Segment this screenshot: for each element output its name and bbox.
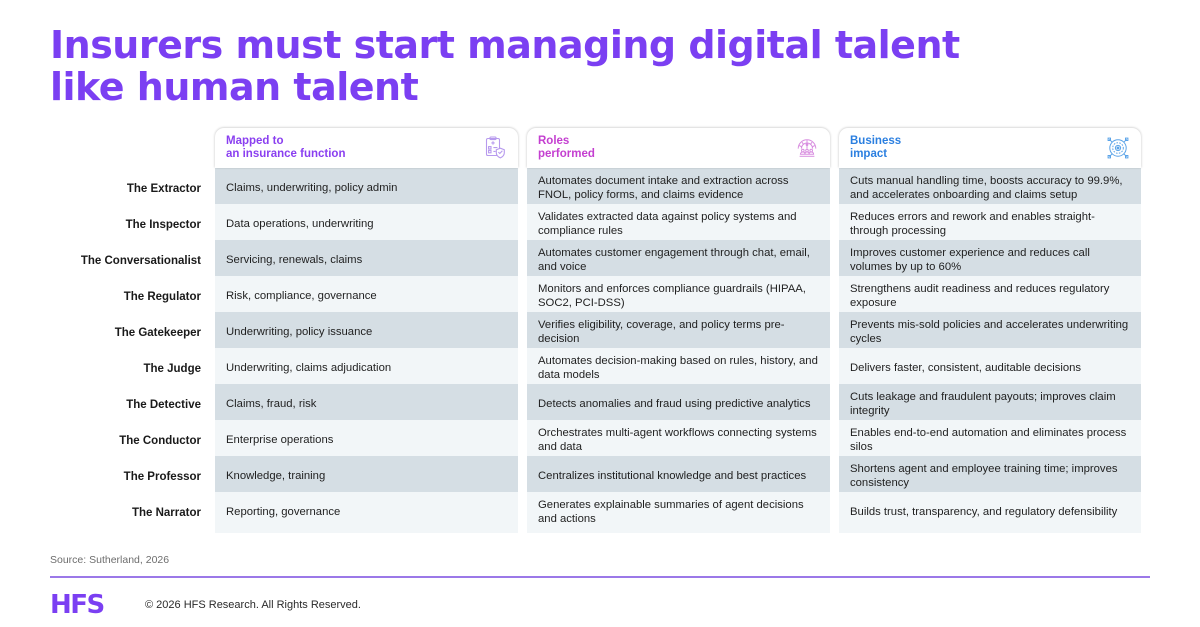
cell-text: Shortens agent and employee training tim… (850, 463, 1130, 490)
cell-impact: Enables end-to-end automation and elimin… (839, 420, 1141, 461)
cell-text: Claims, underwriting, policy admin (226, 182, 397, 196)
cell-text: Underwriting, policy issuance (226, 326, 372, 340)
cell-text: Claims, fraud, risk (226, 398, 316, 412)
table-row: The ExtractorClaims, underwriting, polic… (50, 168, 1150, 204)
cell-role: Monitors and enforces compliance guardra… (527, 276, 830, 317)
header-spacer (50, 128, 215, 168)
cell-impact: Cuts manual handling time, boosts accura… (839, 168, 1141, 209)
table-row: The ConversationalistServicing, renewals… (50, 240, 1150, 276)
cell-text: Reduces errors and rework and enables st… (850, 211, 1130, 238)
clipboard-shield-icon (482, 135, 508, 161)
page-footer: HFS © 2026 HFS Research. All Rights Rese… (50, 588, 1150, 622)
column-header-label: Roles performed (538, 135, 794, 162)
cell-text: Automates decision-making based on rules… (538, 355, 819, 382)
cell-text: Prevents mis-sold policies and accelerat… (850, 319, 1130, 346)
footer-divider (50, 576, 1150, 578)
agent-network-icon (794, 135, 820, 161)
cell-text: Validates extracted data against policy … (538, 211, 819, 238)
column-header-roles-performed: Roles performed (527, 128, 830, 168)
cell-text: Risk, compliance, governance (226, 290, 377, 304)
matrix-header-row: Mapped to an insurance function Roles pe… (50, 128, 1150, 168)
column-header-business-impact: Business impact (839, 128, 1141, 168)
persona-label: The Regulator (50, 276, 215, 317)
cell-text: Monitors and enforces compliance guardra… (538, 283, 819, 310)
table-row: The InspectorData operations, underwriti… (50, 204, 1150, 240)
table-row: The ProfessorKnowledge, trainingCentrali… (50, 456, 1150, 492)
cell-role: Automates document intake and extraction… (527, 168, 830, 209)
cell-role: Generates explainable summaries of agent… (527, 492, 830, 533)
cell-text: Cuts leakage and fraudulent payouts; imp… (850, 391, 1130, 418)
cell-text: Automates document intake and extraction… (538, 175, 819, 202)
cell-impact: Prevents mis-sold policies and accelerat… (839, 312, 1141, 353)
cell-role: Detects anomalies and fraud using predic… (527, 384, 830, 425)
copyright-text: © 2026 HFS Research. All Rights Reserved… (145, 599, 361, 611)
cell-function: Enterprise operations (215, 420, 518, 461)
cell-text: Orchestrates multi-agent workflows conne… (538, 427, 819, 454)
cell-text: Detects anomalies and fraud using predic… (538, 398, 811, 412)
cell-role: Validates extracted data against policy … (527, 204, 830, 245)
table-row: The GatekeeperUnderwriting, policy issua… (50, 312, 1150, 348)
cell-role: Verifies eligibility, coverage, and poli… (527, 312, 830, 353)
persona-label: The Professor (50, 456, 215, 497)
table-row: The JudgeUnderwriting, claims adjudicati… (50, 348, 1150, 384)
cell-role: Automates customer engagement through ch… (527, 240, 830, 281)
cell-role: Centralizes institutional knowledge and … (527, 456, 830, 497)
persona-label: The Judge (50, 348, 215, 389)
cell-function: Knowledge, training (215, 456, 518, 497)
table-row: The DetectiveClaims, fraud, riskDetects … (50, 384, 1150, 420)
cell-function: Reporting, governance (215, 492, 518, 533)
persona-label: The Narrator (50, 492, 215, 533)
cell-text: Cuts manual handling time, boosts accura… (850, 175, 1130, 202)
persona-label: The Conversationalist (50, 240, 215, 281)
cell-text: Underwriting, claims adjudication (226, 362, 391, 376)
target-gear-icon (1105, 135, 1131, 161)
cell-text: Servicing, renewals, claims (226, 254, 362, 268)
cell-text: Builds trust, transparency, and regulato… (850, 506, 1117, 520)
cell-impact: Reduces errors and rework and enables st… (839, 204, 1141, 245)
cell-text: Generates explainable summaries of agent… (538, 499, 819, 526)
cell-text: Automates customer engagement through ch… (538, 247, 819, 274)
persona-label: The Conductor (50, 420, 215, 461)
page-title: Insurers must start managing digital tal… (50, 24, 1150, 108)
persona-label: The Detective (50, 384, 215, 425)
cell-function: Claims, underwriting, policy admin (215, 168, 518, 209)
column-header-label: Business impact (850, 135, 1105, 162)
cell-impact: Delivers faster, consistent, auditable d… (839, 348, 1141, 389)
cell-text: Knowledge, training (226, 470, 325, 484)
cell-impact: Cuts leakage and fraudulent payouts; imp… (839, 384, 1141, 425)
column-header-label: Mapped to an insurance function (226, 135, 482, 162)
cell-text: Enterprise operations (226, 434, 333, 448)
cell-role: Automates decision-making based on rules… (527, 348, 830, 389)
persona-label: The Gatekeeper (50, 312, 215, 353)
hfs-logo: HFS (50, 590, 145, 620)
cell-function: Underwriting, policy issuance (215, 312, 518, 353)
cell-function: Data operations, underwriting (215, 204, 518, 245)
cell-function: Underwriting, claims adjudication (215, 348, 518, 389)
cell-impact: Builds trust, transparency, and regulato… (839, 492, 1141, 533)
cell-role: Orchestrates multi-agent workflows conne… (527, 420, 830, 461)
cell-function: Risk, compliance, governance (215, 276, 518, 317)
cell-text: Verifies eligibility, coverage, and poli… (538, 319, 819, 346)
matrix-body: The ExtractorClaims, underwriting, polic… (50, 168, 1150, 528)
agent-persona-matrix: Mapped to an insurance function Roles pe… (50, 128, 1150, 528)
table-row: The ConductorEnterprise operationsOrches… (50, 420, 1150, 456)
source-note: Source: Sutherland, 2026 (50, 554, 169, 566)
table-row: The NarratorReporting, governanceGenerat… (50, 492, 1150, 528)
cell-text: Centralizes institutional knowledge and … (538, 470, 806, 484)
cell-function: Servicing, renewals, claims (215, 240, 518, 281)
persona-label: The Extractor (50, 168, 215, 209)
cell-text: Enables end-to-end automation and elimin… (850, 427, 1130, 454)
cell-function: Claims, fraud, risk (215, 384, 518, 425)
table-row: The RegulatorRisk, compliance, governanc… (50, 276, 1150, 312)
cell-impact: Strengthens audit readiness and reduces … (839, 276, 1141, 317)
cell-impact: Shortens agent and employee training tim… (839, 456, 1141, 497)
cell-text: Reporting, governance (226, 506, 340, 520)
persona-label: The Inspector (50, 204, 215, 245)
column-header-mapped-to-function: Mapped to an insurance function (215, 128, 518, 168)
cell-text: Improves customer experience and reduces… (850, 247, 1130, 274)
cell-text: Delivers faster, consistent, auditable d… (850, 362, 1081, 376)
cell-text: Strengthens audit readiness and reduces … (850, 283, 1130, 310)
cell-impact: Improves customer experience and reduces… (839, 240, 1141, 281)
cell-text: Data operations, underwriting (226, 218, 374, 232)
